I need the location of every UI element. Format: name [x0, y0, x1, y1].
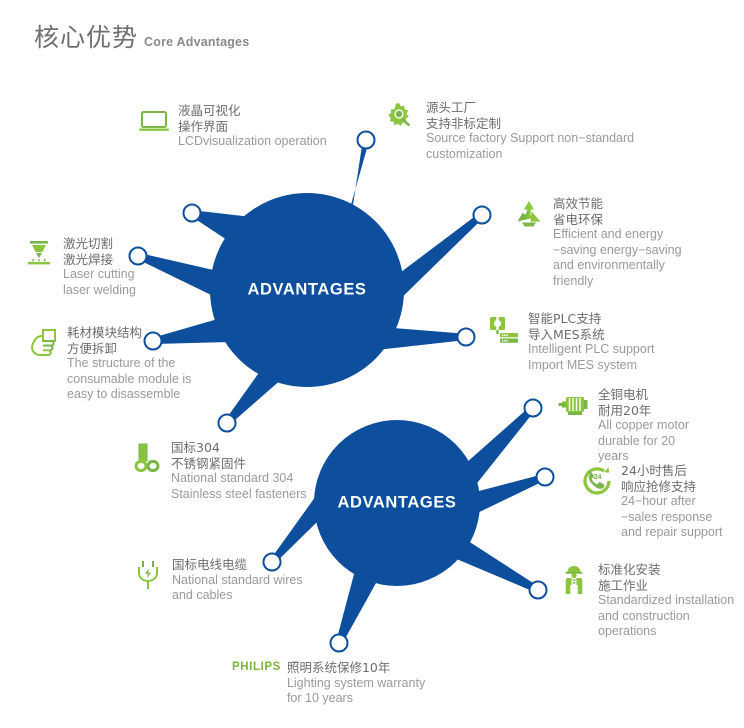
feature-en-line: easy to disassemble: [67, 387, 191, 403]
feature-cn-line: 液晶可视化: [178, 103, 327, 119]
feature-en-line: Stainless steel fasteners: [171, 487, 307, 503]
feature-en-line: and repair support: [621, 525, 722, 541]
phone-24-icon: 24: [580, 464, 614, 498]
feature-en-line: consumable module is: [67, 372, 191, 388]
feature-en-line: All copper motor: [598, 418, 689, 434]
feature-cn-line: 耐用20年: [598, 403, 689, 419]
feature-en-line: The structure of the: [67, 356, 191, 372]
plc-monitor-icon: [487, 312, 521, 346]
feature-cn-line: 耗材模块结构: [67, 325, 191, 341]
feature-lcd-visualization[interactable]: 液晶可视化操作界面LCDvisualization operation: [137, 103, 327, 150]
feature-text-national-wires: 国标电线电缆National standard wiresand cables: [172, 557, 303, 604]
feature-text-lcd-visualization: 液晶可视化操作界面LCDvisualization operation: [178, 103, 327, 150]
feature-en-line: Lighting system warranty: [287, 676, 425, 692]
spoke-connector-8: [475, 474, 545, 514]
feature-text-philips-warranty: 照明系统保修10年Lighting system warrantyfor 10 …: [287, 660, 425, 707]
feature-cn-line: 源头工厂: [426, 100, 634, 116]
spoke-connector-2: [399, 212, 484, 300]
feature-energy-saving[interactable]: 高效节能省电环保Efficient and energy−saving ener…: [512, 196, 682, 289]
laptop-icon: [137, 104, 171, 138]
plug-icon: [131, 558, 165, 592]
feature-text-consumable-module: 耗材模块结构方便拆卸The structure of theconsumable…: [67, 325, 191, 403]
feature-text-copper-motor: 全铜电机耐用20年All copper motordurable for 20y…: [598, 387, 689, 465]
feature-cn-line: 智能PLC支持: [528, 311, 654, 327]
feature-cn-line: 支持非标定制: [426, 116, 634, 132]
spoke-endpoint-7[interactable]: [525, 400, 542, 417]
feature-cn-line: 操作界面: [178, 119, 327, 135]
feature-cn-line: 方便拆卸: [67, 341, 191, 357]
feature-philips-warranty[interactable]: PHILIPS照明系统保修10年Lighting system warranty…: [232, 660, 425, 707]
feature-text-standardized-installation: 标准化安装施工作业Standardized installationand co…: [598, 562, 734, 640]
feature-en-line: and environmentally: [553, 258, 682, 274]
feature-text-intelligent-plc: 智能PLC支持导入MES系统Intelligent PLC supportImp…: [528, 311, 654, 373]
feature-en-line: 24−hour after: [621, 494, 722, 510]
feature-stainless-fasteners[interactable]: 国标304不锈钢紧固件National standard 304Stainles…: [130, 440, 307, 502]
feature-en-line: Import MES system: [528, 358, 654, 374]
feature-en-line: LCDvisualization operation: [178, 134, 327, 150]
feature-cn-line: 激光切割: [63, 236, 136, 252]
feature-cn-line: 全铜电机: [598, 387, 689, 403]
feature-cn-line: 施工作业: [598, 578, 734, 594]
feature-en-line: and construction: [598, 609, 734, 625]
feature-en-line: National standard 304: [171, 471, 307, 487]
worker-icon: [557, 563, 591, 597]
feature-en-line: −saving energy−saving: [553, 243, 682, 259]
feature-cn-line: 导入MES系统: [528, 327, 654, 343]
motor-icon: [557, 388, 591, 422]
spoke-endpoint-1[interactable]: [358, 132, 375, 149]
hand-module-icon: [26, 326, 60, 360]
bolt-icon: [130, 441, 164, 475]
spoke-connector-10: [271, 492, 320, 565]
spoke-connector-4: [137, 253, 216, 297]
feature-standardized-installation[interactable]: 标准化安装施工作业Standardized installationand co…: [557, 562, 734, 640]
feature-en-line: Laser cutting: [63, 267, 136, 283]
feature-cn-line: 照明系统保修10年: [287, 660, 425, 676]
feature-cn-line: 24小时售后: [621, 463, 722, 479]
feature-consumable-module[interactable]: 耗材模块结构方便拆卸The structure of theconsumable…: [26, 325, 191, 403]
spoke-endpoint-11[interactable]: [331, 635, 348, 652]
feature-en-line: −sales response: [621, 510, 722, 526]
feature-source-factory[interactable]: 源头工厂支持非标定制Source factory Support non−sta…: [385, 100, 634, 162]
feature-laser-cutting[interactable]: 激光切割激光焊接Laser cuttinglaser welding: [22, 236, 136, 298]
svg-text:24: 24: [594, 474, 602, 481]
feature-cn-line: 国标电线电缆: [172, 557, 303, 573]
feature-en-line: durable for 20: [598, 434, 689, 450]
feature-text-stainless-fasteners: 国标304不锈钢紧固件National standard 304Stainles…: [171, 440, 307, 502]
philips-logo: PHILIPS: [232, 661, 281, 673]
feature-en-line: National standard wires: [172, 573, 303, 589]
feature-en-line: and cables: [172, 588, 303, 604]
feature-cn-line: 标准化安装: [598, 562, 734, 578]
spoke-endpoint-6[interactable]: [219, 415, 236, 432]
feature-cn-line: 响应抢修支持: [621, 479, 722, 495]
infographic-canvas: 核心优势 Core Advantages ADVANTAGESADVANTAGE…: [0, 0, 744, 728]
feature-cn-line: 高效节能: [553, 196, 682, 212]
spoke-endpoint-3[interactable]: [458, 329, 475, 346]
feature-text-after-sales-24h: 24小时售后响应抢修支持24−hour after−sales response…: [621, 463, 722, 541]
feature-en-line: laser welding: [63, 283, 136, 299]
feature-after-sales-24h[interactable]: 2424小时售后响应抢修支持24−hour after−sales respon…: [580, 463, 722, 541]
feature-cn-line: 国标304: [171, 440, 307, 456]
spoke-endpoint-2[interactable]: [474, 207, 491, 224]
feature-text-source-factory: 源头工厂支持非标定制Source factory Support non−sta…: [426, 100, 634, 162]
spoke-endpoint-8[interactable]: [537, 469, 554, 486]
spoke-connector-7: [465, 405, 534, 486]
feature-en-line: customization: [426, 147, 634, 163]
feature-text-energy-saving: 高效节能省电环保Efficient and energy−saving ener…: [553, 196, 682, 289]
spoke-endpoint-9[interactable]: [530, 582, 547, 599]
gear-search-icon: [385, 101, 419, 135]
hub-label-1: ADVANTAGES: [337, 494, 456, 513]
spoke-endpoint-0[interactable]: [184, 205, 201, 222]
laser-icon: [22, 237, 56, 271]
feature-cn-line: 不锈钢紧固件: [171, 456, 307, 472]
feature-national-wires[interactable]: 国标电线电缆National standard wiresand cables: [131, 557, 303, 604]
feature-en-line: Standardized installation: [598, 593, 734, 609]
feature-en-line: Source factory Support non−standard: [426, 131, 634, 147]
feature-text-laser-cutting: 激光切割激光焊接Laser cuttinglaser welding: [63, 236, 136, 298]
feature-intelligent-plc[interactable]: 智能PLC支持导入MES系统Intelligent PLC supportImp…: [487, 311, 654, 373]
feature-cn-line: 激光焊接: [63, 252, 136, 268]
feature-copper-motor[interactable]: 全铜电机耐用20年All copper motordurable for 20y…: [557, 387, 689, 465]
feature-en-line: Intelligent PLC support: [528, 342, 654, 358]
hub-label-0: ADVANTAGES: [247, 281, 366, 300]
feature-cn-line: 省电环保: [553, 212, 682, 228]
feature-en-line: Efficient and energy: [553, 227, 682, 243]
feature-en-line: friendly: [553, 274, 682, 290]
recycle-icon: [512, 197, 546, 231]
feature-en-line: operations: [598, 624, 734, 640]
feature-en-line: for 10 years: [287, 691, 425, 707]
